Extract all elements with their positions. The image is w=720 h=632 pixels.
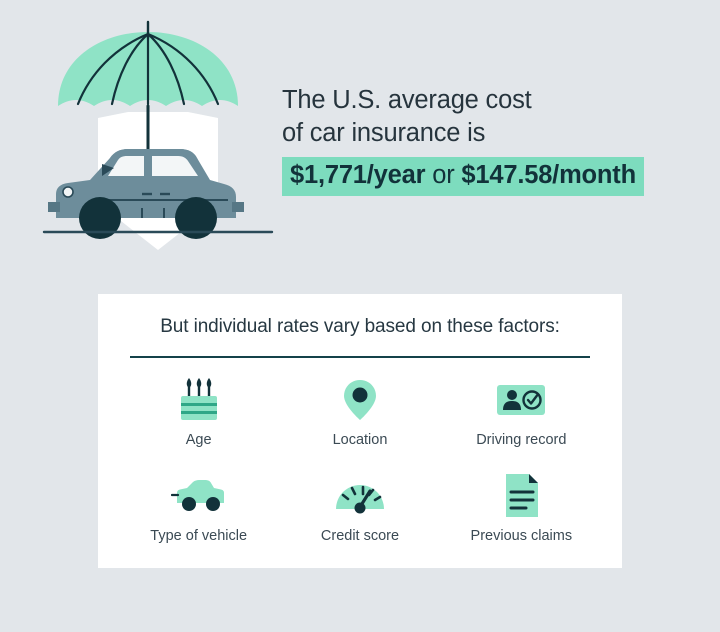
factor-credit-score[interactable]: Credit score [279,470,440,566]
cost-per-year: $1,771/year [290,161,425,189]
factor-grid: Age Location [98,374,622,566]
factors-card-title: But individual rates vary based on these… [98,294,622,338]
headline-line-1: The U.S. average cost [282,84,682,117]
candle-flames [186,378,211,388]
cost-per-month: $147.58/month [461,161,636,189]
cost-highlight-band: $1,771/year or $147.58/month [282,157,644,196]
car-side-icon [171,470,227,522]
document-lines-icon [499,470,543,522]
hero-illustration [38,18,278,268]
factor-driving-record[interactable]: Driving record [441,374,602,470]
hero-text-block: The U.S. average cost of car insurance i… [282,84,682,196]
factor-type-of-vehicle[interactable]: Type of vehicle [118,470,279,566]
id-card-check-icon [495,374,547,426]
map-pin-icon [340,374,380,426]
infographic-page: The U.S. average cost of car insurance i… [0,0,720,632]
factor-label: Credit score [321,528,399,544]
card-divider [130,356,590,358]
hero-section: The U.S. average cost of car insurance i… [0,0,720,285]
factor-label: Location [333,432,388,448]
factor-previous-claims[interactable]: Previous claims [441,470,602,566]
headline-line-2: of car insurance is [282,117,682,150]
gauge-icon [332,470,388,522]
factor-age[interactable]: Age [118,374,279,470]
factor-label: Age [186,432,212,448]
factors-card: But individual rates vary based on these… [98,294,622,568]
factor-location[interactable]: Location [279,374,440,470]
factor-label: Type of vehicle [150,528,247,544]
factor-label: Previous claims [471,528,573,544]
cost-conjunction: or [425,161,461,189]
birthday-cake-icon [176,374,222,426]
umbrella-car-shield-illustration [38,18,278,268]
factor-label: Driving record [476,432,566,448]
